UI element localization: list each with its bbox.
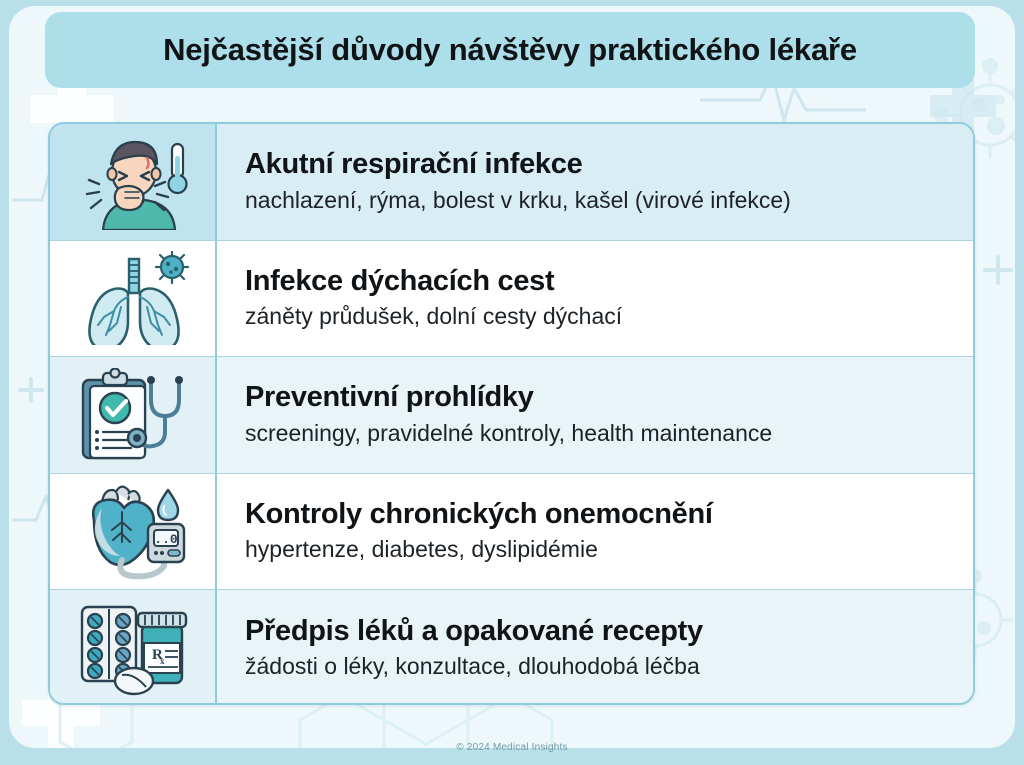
reasons-table: Akutní respirační infekce nachlazení, rý…: [48, 122, 975, 705]
table-row[interactable]: Preventivní prohlídky screeningy, pravid…: [50, 357, 973, 474]
page-title: Nejčastější důvody návštěvy praktického …: [163, 32, 857, 68]
pills-prescription-bottle-icon: R x: [72, 601, 194, 697]
row-title: Kontroly chronických onemocnění: [245, 498, 973, 530]
copyright-footer: © 2024 Medical Insights: [0, 742, 1024, 753]
row-subtitle: nachlazení, rýma, bolest v krku, kašel (…: [245, 186, 973, 216]
row-subtitle: screeningy, pravidelné kontroly, health …: [245, 419, 973, 449]
svg-text:..0: ..0: [154, 532, 178, 547]
row-text-cell: Kontroly chronických onemocnění hyperten…: [217, 474, 973, 590]
row-title: Infekce dýchacích cest: [245, 265, 973, 297]
svg-text:x: x: [160, 656, 165, 666]
row-text-cell: Infekce dýchacích cest záněty průdušek, …: [217, 241, 973, 357]
table-row[interactable]: Infekce dýchacích cest záněty průdušek, …: [50, 241, 973, 358]
table-row[interactable]: Akutní respirační infekce nachlazení, rý…: [50, 124, 973, 241]
table-row[interactable]: R x Předpis léků a opakované recepty žád…: [50, 590, 973, 705]
row-icon-cell: [50, 357, 217, 473]
title-bar: Nejčastější důvody návštěvy praktického …: [45, 12, 975, 88]
row-subtitle: záněty průdušek, dolní cesty dýchací: [245, 302, 973, 332]
heart-blood-pressure-monitor-icon: ..0: [72, 484, 194, 580]
table-row[interactable]: ..0 Kontroly chronických onemocnění hype…: [50, 474, 973, 591]
row-text-cell: Preventivní prohlídky screeningy, pravid…: [217, 357, 973, 473]
row-icon-cell: [50, 241, 217, 357]
row-text-cell: Předpis léků a opakované recepty žádosti…: [217, 590, 973, 705]
infographic-poster: Nejčastější důvody návštěvy praktického …: [0, 0, 1024, 765]
row-title: Preventivní prohlídky: [245, 381, 973, 413]
row-icon-cell: [50, 124, 217, 240]
clipboard-checkmark-stethoscope-icon: [73, 368, 193, 462]
coughing-person-thermometer-icon: [73, 134, 193, 230]
row-icon-cell: ..0: [50, 474, 217, 590]
row-text-cell: Akutní respirační infekce nachlazení, rý…: [217, 124, 973, 240]
virus-glyph: [156, 251, 188, 283]
lungs-virus-icon: [74, 251, 192, 345]
row-title: Akutní respirační infekce: [245, 148, 973, 180]
row-subtitle: žádosti o léky, konzultace, dlouhodobá l…: [245, 652, 973, 682]
row-subtitle: hypertenze, diabetes, dyslipidémie: [245, 535, 973, 565]
row-title: Předpis léků a opakované recepty: [245, 615, 973, 647]
row-icon-cell: R x: [50, 590, 217, 705]
